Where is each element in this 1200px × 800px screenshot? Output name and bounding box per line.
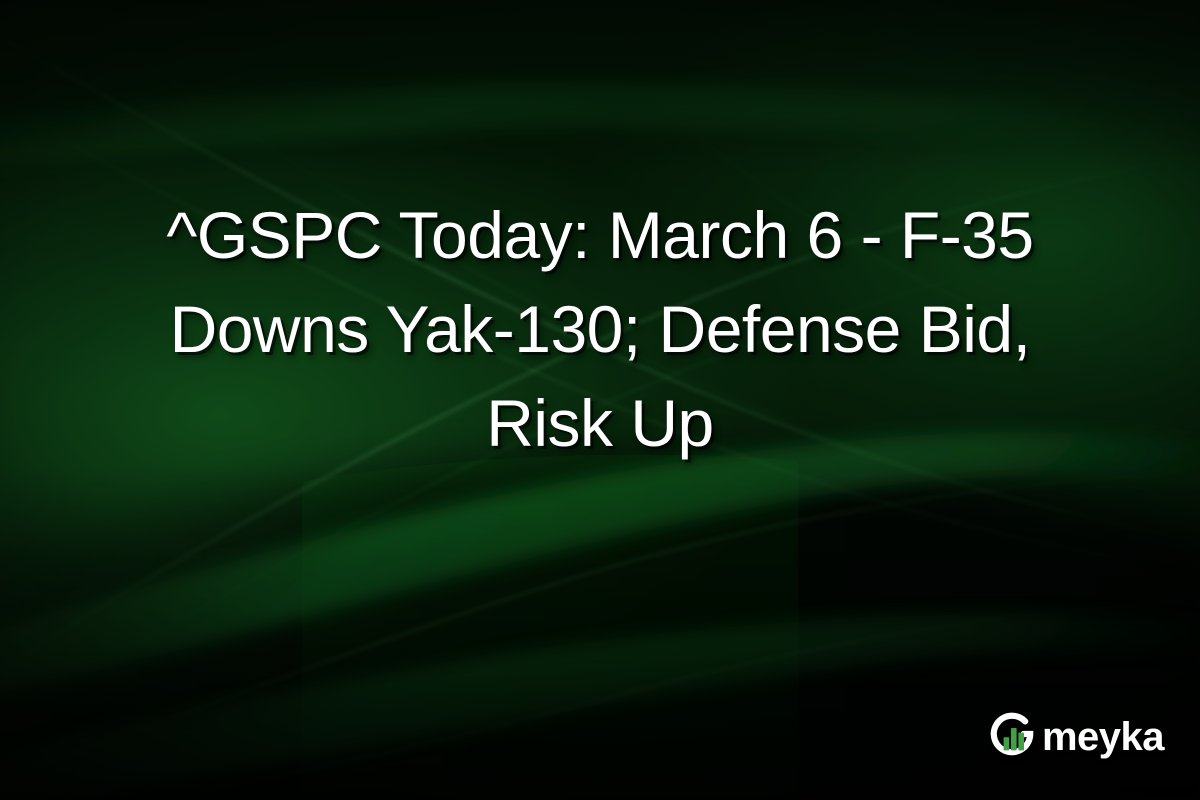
brand-name: meyka	[1042, 717, 1164, 757]
page-title: ^GSPC Today: March 6 - F-35 Downs Yak-13…	[50, 189, 1150, 470]
share-card: ^GSPC Today: March 6 - F-35 Downs Yak-13…	[0, 0, 1200, 800]
meyka-bar-chart-ring-icon	[986, 710, 1038, 762]
headline-container: ^GSPC Today: March 6 - F-35 Downs Yak-13…	[0, 0, 1200, 660]
brand-lockup[interactable]: meyka	[986, 710, 1164, 762]
